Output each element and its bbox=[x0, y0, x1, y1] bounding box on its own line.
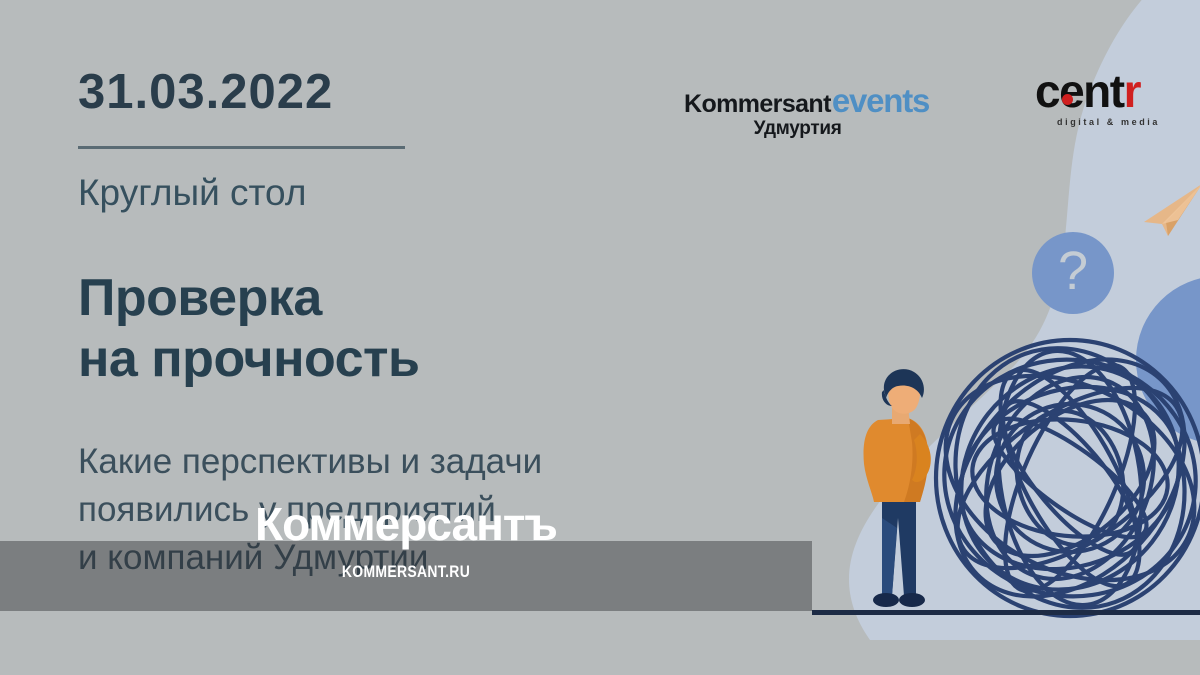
event-title-line-1: Проверка bbox=[78, 268, 419, 329]
centr-wordmark: centr bbox=[1035, 68, 1160, 114]
paper-airplane-icon bbox=[1138, 178, 1200, 240]
event-title: Проверка на прочность bbox=[78, 268, 419, 390]
standing-person-illustration bbox=[848, 368, 952, 616]
centr-red-dot-icon bbox=[1062, 94, 1073, 105]
watermark-brand: Коммерсантъ bbox=[0, 501, 812, 547]
centr-tagline: digital & media bbox=[1057, 117, 1160, 127]
ground-line bbox=[812, 610, 1200, 615]
centr-wordmark-red: r bbox=[1124, 65, 1140, 117]
divider-rule bbox=[78, 146, 405, 149]
centr-logo: centr digital & media bbox=[1035, 68, 1160, 127]
kommersant-logo-row: Kommersant events bbox=[684, 82, 929, 120]
tangled-thread-ball-icon bbox=[930, 328, 1200, 620]
kommersant-region-label: Удмуртия bbox=[684, 118, 929, 140]
event-description-line-1: Какие перспективы и задачи bbox=[78, 438, 778, 486]
events-wordmark: events bbox=[832, 82, 929, 120]
question-mark-circle: ? bbox=[1032, 232, 1114, 314]
promo-banner: ? bbox=[0, 0, 1200, 675]
question-mark-glyph: ? bbox=[1058, 244, 1088, 298]
event-format: Круглый стол bbox=[78, 172, 306, 215]
watermark-url: KOMMERSANT.RU bbox=[73, 563, 739, 580]
centr-wordmark-dark: cent bbox=[1035, 65, 1124, 117]
kommersant-events-logo: Kommersant events Удмуртия bbox=[684, 82, 929, 140]
event-date: 31.03.2022 bbox=[78, 68, 333, 117]
kommersant-wordmark: Kommersant bbox=[684, 90, 831, 119]
event-title-line-2: на прочность bbox=[78, 329, 419, 390]
